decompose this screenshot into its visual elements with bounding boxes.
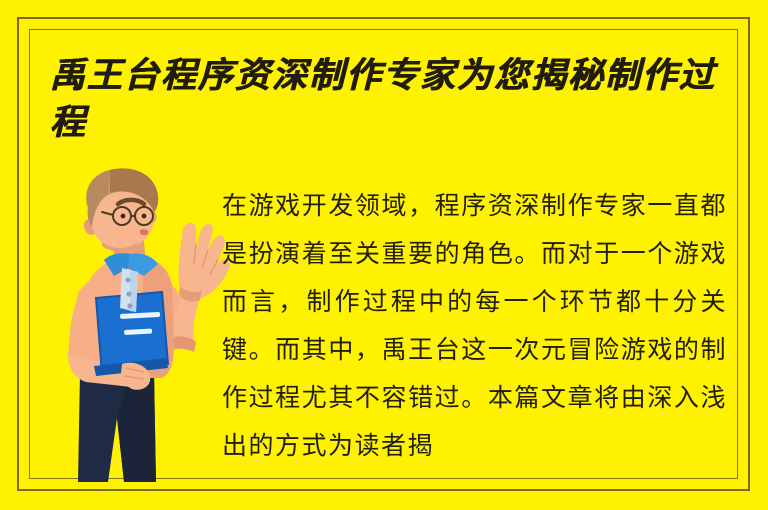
waving-man-with-book-illustration — [44, 168, 230, 482]
pants-graphic — [78, 373, 156, 482]
poster-canvas: 禹王台程序资深制作专家为您揭秘制作过程 — [0, 0, 768, 510]
article-body-text: 在游戏开发领域，程序资深制作专家一直都是扮演着至关重要的角色。而对于一个游戏而言… — [222, 182, 727, 470]
head-graphic — [84, 168, 158, 251]
page-title: 禹王台程序资深制作专家为您揭秘制作过程 — [50, 52, 720, 146]
